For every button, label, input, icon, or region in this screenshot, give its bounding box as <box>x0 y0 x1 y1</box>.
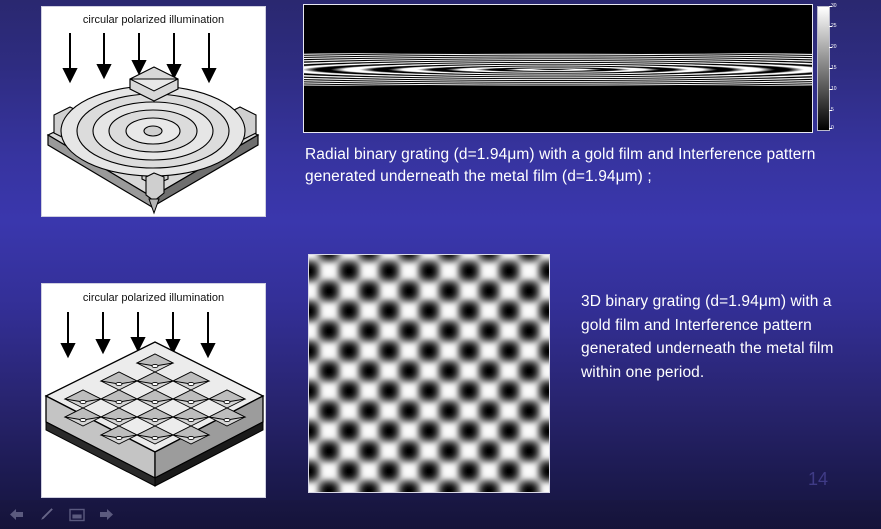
illumination-arrows <box>62 312 214 356</box>
colorbar-tick: 30 <box>831 4 837 9</box>
colorbar-tick: 0 <box>831 126 834 131</box>
3d-grating-illustration <box>42 284 266 498</box>
radial-grating-description: Radial binary grating (d=1.94μm) with a … <box>305 144 850 188</box>
page-number: 14 <box>808 469 828 490</box>
presentation-toolbar <box>0 500 881 529</box>
colorbar-tick-labels: 30 25 20 15 10 5 0 <box>831 4 845 133</box>
colorbar-tick: 20 <box>831 45 837 50</box>
next-slide-icon[interactable] <box>97 507 116 523</box>
radial-grating-figure-caption: circular polarized illumination <box>42 14 265 26</box>
bottom-tip <box>146 173 164 213</box>
colorbar-tick: 10 <box>831 87 837 92</box>
colorbar-tick: 15 <box>831 66 837 71</box>
radial-grating-illustration <box>42 7 266 217</box>
previous-slide-icon[interactable] <box>7 507 26 523</box>
colorbar-tick: 5 <box>831 108 834 113</box>
lattice-fringe-svg <box>309 255 550 493</box>
colorbar-tick: 25 <box>831 24 837 29</box>
pen-icon[interactable] <box>37 507 56 523</box>
3d-grating-figure-panel: circular polarized illumination <box>41 283 266 498</box>
lattice-interference-pattern <box>308 254 550 493</box>
radial-interference-pattern <box>303 4 813 133</box>
3d-grating-figure-caption: circular polarized illumination <box>42 292 265 304</box>
3d-grating-description: 3D binary grating (d=1.94μm) with a gold… <box>581 290 861 384</box>
slide-menu-icon[interactable] <box>67 507 86 523</box>
intensity-colorbar: 30 25 20 15 10 5 0 <box>817 4 845 133</box>
radial-grating-figure-panel: circular polarized illumination <box>41 6 266 217</box>
radial-fringe-svg <box>304 5 813 133</box>
